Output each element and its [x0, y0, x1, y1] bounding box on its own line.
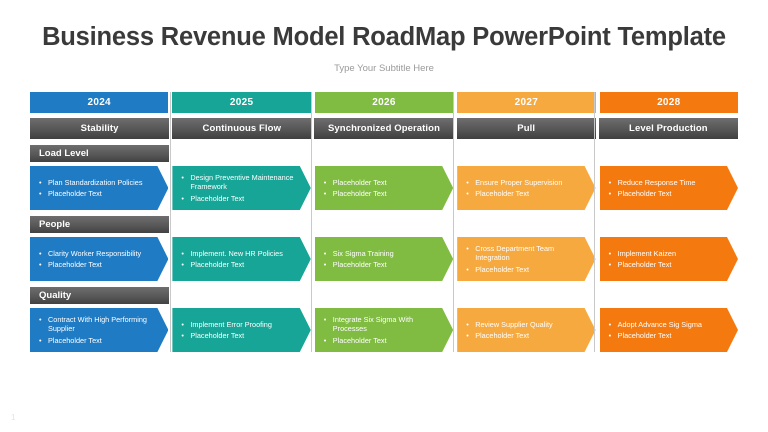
- bullet-dot-icon: •: [466, 178, 475, 188]
- title-block: Business Revenue Model RoadMap PowerPoin…: [0, 0, 768, 74]
- bullet-text: Adopt Advance Sig Sigma: [618, 320, 724, 330]
- bullet-dot-icon: •: [609, 260, 618, 270]
- bullet-dot-icon: •: [39, 249, 48, 259]
- category-bar-row: Quality: [30, 287, 738, 304]
- bullet-item: •Plan Standardization Policies: [39, 178, 154, 188]
- bullet-text: Placeholder Text: [190, 260, 296, 270]
- bullet-dot-icon: •: [181, 249, 190, 259]
- bullet-text: Placeholder Text: [48, 336, 154, 346]
- phase-header-synchronized-operation[interactable]: Synchronized Operation: [314, 118, 453, 139]
- bullet-dot-icon: •: [324, 178, 333, 188]
- content-row: •Plan Standardization Policies•Placehold…: [30, 166, 738, 210]
- bullet-text: Placeholder Text: [190, 194, 296, 204]
- bullet-text: Placeholder Text: [333, 260, 439, 270]
- chevron-cell-2024-people[interactable]: •Clarity Worker Responsibility•Placehold…: [30, 237, 168, 281]
- bullet-item: •Placeholder Text: [466, 265, 581, 275]
- bullet-dot-icon: •: [181, 194, 190, 204]
- bullet-item: •Ensure Proper Supervision: [466, 178, 581, 188]
- category-label-quality[interactable]: Quality: [30, 287, 169, 304]
- roadmap-rows: Load Level•Plan Standardization Policies…: [30, 145, 738, 352]
- bullet-item: •Placeholder Text: [609, 189, 724, 199]
- bullet-item: •Placeholder Text: [609, 331, 724, 341]
- bullet-item: •Six Sigma Training: [324, 249, 439, 259]
- phase-header-pull[interactable]: Pull: [457, 118, 596, 139]
- phase-header-level-production[interactable]: Level Production: [599, 118, 738, 139]
- bullet-item: •Placeholder Text: [324, 260, 439, 270]
- page-number: 1: [11, 413, 15, 422]
- chevron-cell-2027-quality[interactable]: •Review Supplier Quality•Placeholder Tex…: [457, 308, 595, 352]
- bullet-item: •Cross Department Team Integration: [466, 244, 581, 264]
- bullet-item: •Integrate Six Sigma With Processes: [324, 315, 439, 335]
- bullet-text: Placeholder Text: [333, 189, 439, 199]
- chevron-cell-2026-load-level[interactable]: •Placeholder Text•Placeholder Text: [315, 166, 453, 210]
- chevron-cell-2028-load-level[interactable]: •Reduce Response Time•Placeholder Text: [600, 166, 738, 210]
- bullet-text: Placeholder Text: [475, 331, 581, 341]
- year-header-2027[interactable]: 2027: [457, 92, 595, 113]
- bullet-text: Implement Error Proofing: [190, 320, 296, 330]
- bullet-item: •Placeholder Text: [39, 189, 154, 199]
- column-divider: [594, 92, 595, 352]
- bullet-dot-icon: •: [324, 189, 333, 199]
- phase-header-row: StabilityContinuous FlowSynchronized Ope…: [30, 118, 738, 139]
- bullet-text: Placeholder Text: [475, 189, 581, 199]
- bullet-item: •Reduce Response Time: [609, 178, 724, 188]
- bullet-text: Implement. New HR Policies: [190, 249, 296, 259]
- bullet-text: Review Supplier Quality: [475, 320, 581, 330]
- bullet-dot-icon: •: [181, 260, 190, 270]
- chevron-cell-2028-people[interactable]: •Implement Kaizen•Placeholder Text: [600, 237, 738, 281]
- bullet-text: Placeholder Text: [333, 336, 439, 346]
- bullet-dot-icon: •: [324, 336, 333, 346]
- bullet-dot-icon: •: [324, 315, 333, 325]
- bullet-dot-icon: •: [609, 249, 618, 259]
- content-row: •Contract With High Performing Supplier•…: [30, 308, 738, 352]
- bullet-item: •Implement Error Proofing: [181, 320, 296, 330]
- bullet-item: •Placeholder Text: [324, 189, 439, 199]
- phase-header-stability[interactable]: Stability: [30, 118, 169, 139]
- chevron-cell-2027-load-level[interactable]: •Ensure Proper Supervision•Placeholder T…: [457, 166, 595, 210]
- bullet-text: Integrate Six Sigma With Processes: [333, 315, 439, 335]
- bullet-dot-icon: •: [39, 336, 48, 346]
- year-header-2024[interactable]: 2024: [30, 92, 168, 113]
- bullet-item: •Placeholder Text: [181, 331, 296, 341]
- category-bar-row: Load Level: [30, 145, 738, 162]
- bullet-text: Reduce Response Time: [618, 178, 724, 188]
- bullet-item: •Placeholder Text: [324, 178, 439, 188]
- bullet-item: •Placeholder Text: [39, 260, 154, 270]
- bullet-text: Six Sigma Training: [333, 249, 439, 259]
- chevron-cell-2026-people[interactable]: •Six Sigma Training•Placeholder Text: [315, 237, 453, 281]
- bullet-item: •Review Supplier Quality: [466, 320, 581, 330]
- content-row: •Clarity Worker Responsibility•Placehold…: [30, 237, 738, 281]
- bullet-dot-icon: •: [39, 178, 48, 188]
- year-header-2025[interactable]: 2025: [172, 92, 310, 113]
- bullet-text: Placeholder Text: [618, 331, 724, 341]
- bullet-dot-icon: •: [39, 189, 48, 199]
- bullet-text: Placeholder Text: [48, 260, 154, 270]
- chevron-cell-2027-people[interactable]: •Cross Department Team Integration•Place…: [457, 237, 595, 281]
- bullet-text: Contract With High Performing Supplier: [48, 315, 154, 335]
- page-subtitle: Type Your Subtitle Here: [0, 63, 768, 74]
- bullet-item: •Placeholder Text: [324, 336, 439, 346]
- bullet-text: Placeholder Text: [618, 260, 724, 270]
- bullet-item: •Placeholder Text: [609, 260, 724, 270]
- page-title: Business Revenue Model RoadMap PowerPoin…: [0, 23, 768, 51]
- bullet-text: Implement Kaizen: [618, 249, 724, 259]
- bullet-dot-icon: •: [39, 315, 48, 325]
- bullet-dot-icon: •: [609, 189, 618, 199]
- bullet-item: •Clarity Worker Responsibility: [39, 249, 154, 259]
- bullet-dot-icon: •: [181, 331, 190, 341]
- year-header-2026[interactable]: 2026: [315, 92, 453, 113]
- category-label-load-level[interactable]: Load Level: [30, 145, 169, 162]
- bullet-text: Ensure Proper Supervision: [475, 178, 581, 188]
- chevron-cell-2024-quality[interactable]: •Contract With High Performing Supplier•…: [30, 308, 168, 352]
- bullet-dot-icon: •: [466, 189, 475, 199]
- bullet-item: •Implement Kaizen: [609, 249, 724, 259]
- phase-header-continuous-flow[interactable]: Continuous Flow: [172, 118, 311, 139]
- bullet-dot-icon: •: [324, 249, 333, 259]
- bullet-dot-icon: •: [609, 320, 618, 330]
- bullet-text: Placeholder Text: [48, 189, 154, 199]
- bullet-dot-icon: •: [324, 260, 333, 270]
- bullet-dot-icon: •: [609, 331, 618, 341]
- chevron-cell-2025-people[interactable]: •Implement. New HR Policies•Placeholder …: [172, 237, 310, 281]
- bullet-text: Plan Standardization Policies: [48, 178, 154, 188]
- chevron-cell-2025-load-level[interactable]: •Design Preventive Maintenance Framework…: [172, 166, 310, 210]
- bullet-dot-icon: •: [39, 260, 48, 270]
- column-divider: [311, 92, 312, 352]
- bullet-item: •Placeholder Text: [466, 189, 581, 199]
- category-label-people[interactable]: People: [30, 216, 169, 233]
- bullet-dot-icon: •: [609, 178, 618, 188]
- category-bar-row: People: [30, 216, 738, 233]
- year-header-2028[interactable]: 2028: [600, 92, 738, 113]
- bullet-text: Placeholder Text: [333, 178, 439, 188]
- bullet-dot-icon: •: [466, 320, 475, 330]
- bullet-item: •Placeholder Text: [39, 336, 154, 346]
- bullet-item: •Placeholder Text: [466, 331, 581, 341]
- year-header-row: 20242025202620272028: [30, 92, 738, 113]
- chevron-cell-2028-quality[interactable]: •Adopt Advance Sig Sigma•Placeholder Tex…: [600, 308, 738, 352]
- column-divider: [170, 92, 171, 352]
- bullet-text: Design Preventive Maintenance Framework: [190, 173, 296, 193]
- bullet-text: Cross Department Team Integration: [475, 244, 581, 264]
- bullet-item: •Placeholder Text: [181, 194, 296, 204]
- bullet-item: •Contract With High Performing Supplier: [39, 315, 154, 335]
- bullet-text: Placeholder Text: [475, 265, 581, 275]
- chevron-cell-2026-quality[interactable]: •Integrate Six Sigma With Processes•Plac…: [315, 308, 453, 352]
- bullet-text: Clarity Worker Responsibility: [48, 249, 154, 259]
- chevron-cell-2024-load-level[interactable]: •Plan Standardization Policies•Placehold…: [30, 166, 168, 210]
- bullet-dot-icon: •: [466, 331, 475, 341]
- bullet-dot-icon: •: [466, 244, 475, 254]
- bullet-dot-icon: •: [466, 265, 475, 275]
- roadmap-matrix: 20242025202620272028 StabilityContinuous…: [30, 92, 738, 352]
- column-divider: [453, 92, 454, 352]
- bullet-item: •Placeholder Text: [181, 260, 296, 270]
- chevron-cell-2025-quality[interactable]: •Implement Error Proofing•Placeholder Te…: [172, 308, 310, 352]
- bullet-dot-icon: •: [181, 320, 190, 330]
- bullet-item: •Implement. New HR Policies: [181, 249, 296, 259]
- bullet-item: •Design Preventive Maintenance Framework: [181, 173, 296, 193]
- bullet-item: •Adopt Advance Sig Sigma: [609, 320, 724, 330]
- bullet-dot-icon: •: [181, 173, 190, 183]
- bullet-text: Placeholder Text: [190, 331, 296, 341]
- bullet-text: Placeholder Text: [618, 189, 724, 199]
